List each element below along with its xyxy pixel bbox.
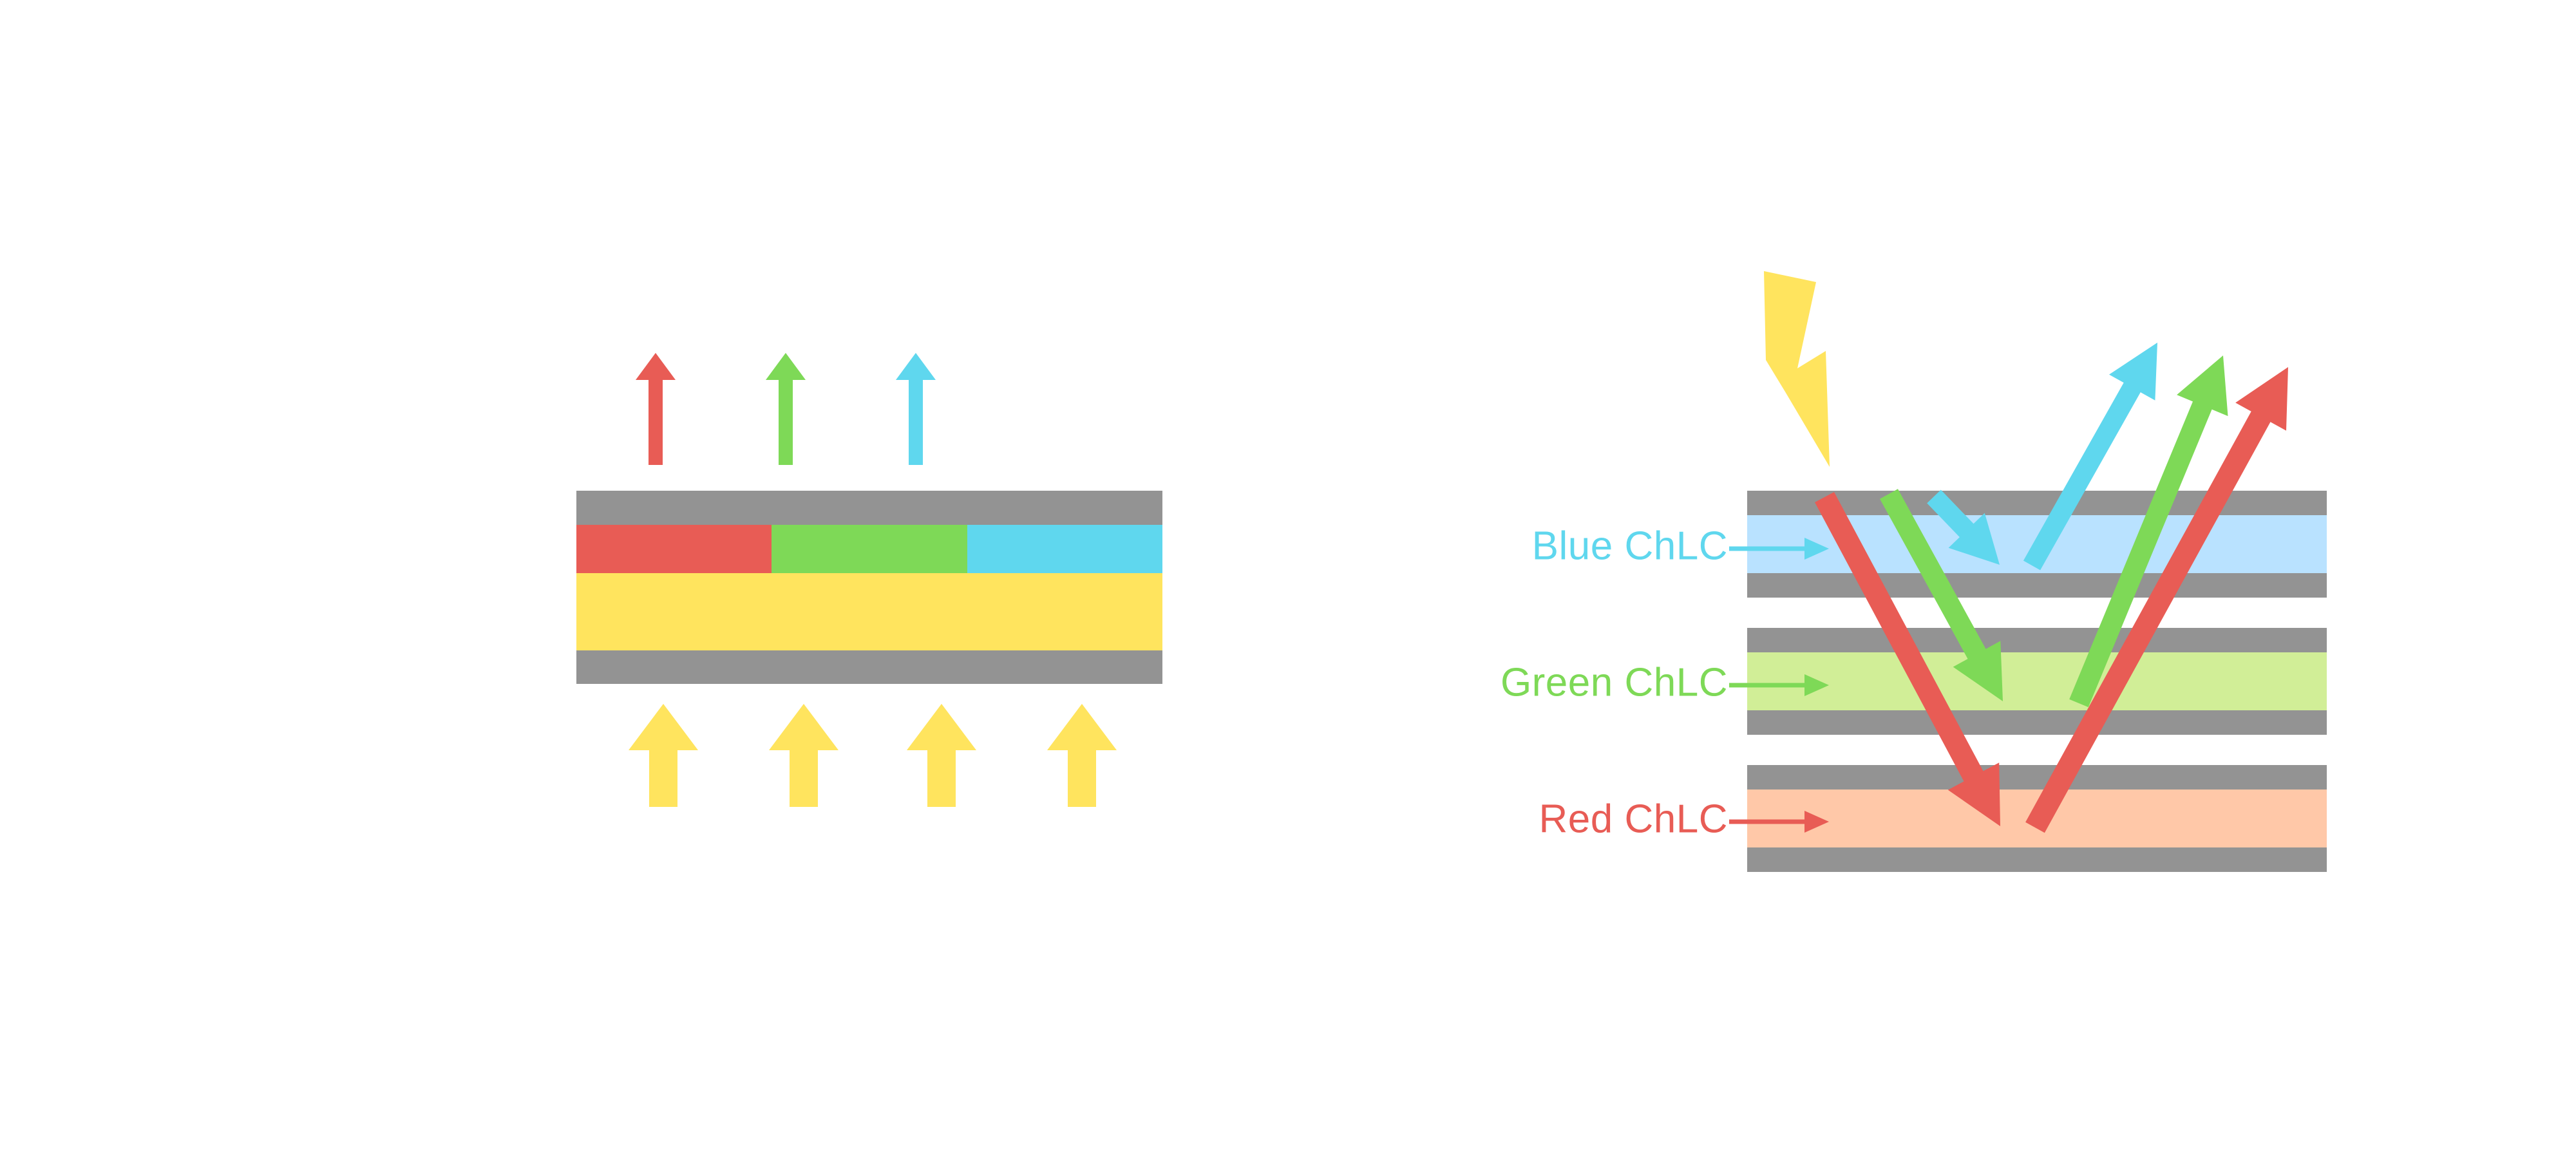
top-gray-layer: [576, 491, 1162, 525]
green-chlc-label-text: Green ChLC: [1501, 660, 1728, 705]
right-panel-chlc-stack: Blue ChLCGreen ChLCRed ChLC: [1501, 271, 2327, 872]
red-filter-segment: [576, 525, 772, 573]
left-stack-layers-group: [576, 491, 1162, 684]
green-chlc-cell-top-electrode: [1747, 628, 2327, 652]
yellow-backlight-layer: [576, 573, 1162, 650]
green-chlc-cell-bottom-electrode: [1747, 710, 2327, 735]
red-chlc-label-text: Red ChLC: [1539, 797, 1728, 841]
blue-chlc-cell-bottom-electrode: [1747, 573, 2327, 598]
red-reflected-arrow: [2025, 367, 2288, 833]
cyan-filter-segment: [967, 525, 1162, 573]
yellow-source-arrow: [769, 704, 838, 807]
diagram-canvas: Blue ChLCGreen ChLCRed ChLC: [0, 0, 2576, 1154]
green-filter-segment: [772, 525, 967, 573]
yellow-source-arrow: [629, 704, 698, 807]
blue-chlc-label-text: Blue ChLC: [1532, 524, 1728, 568]
green-chlc-cell: [1747, 628, 2327, 735]
red-chlc-cell-top-electrode: [1747, 765, 2327, 790]
cyan-emitted-arrow: [896, 353, 936, 465]
emitted-light-arrows-group: [636, 353, 936, 465]
left-panel-emissive-stack: [576, 353, 1162, 807]
bottom-gray-layer: [576, 650, 1162, 684]
yellow-incident-light-arrow: [1764, 271, 1830, 467]
backlight-source-arrows-group: [629, 704, 1117, 807]
chlc-diagram-svg: Blue ChLCGreen ChLCRed ChLC: [0, 0, 2576, 1154]
yellow-incident-light-arrow: [1764, 271, 1830, 467]
green-emitted-arrow: [766, 353, 806, 465]
green-chlc-cell-core: [1747, 652, 2327, 710]
red-chlc-cell-bottom-electrode: [1747, 847, 2327, 872]
yellow-source-arrow: [1047, 704, 1117, 807]
yellow-source-arrow: [907, 704, 976, 807]
red-emitted-arrow: [636, 353, 676, 465]
